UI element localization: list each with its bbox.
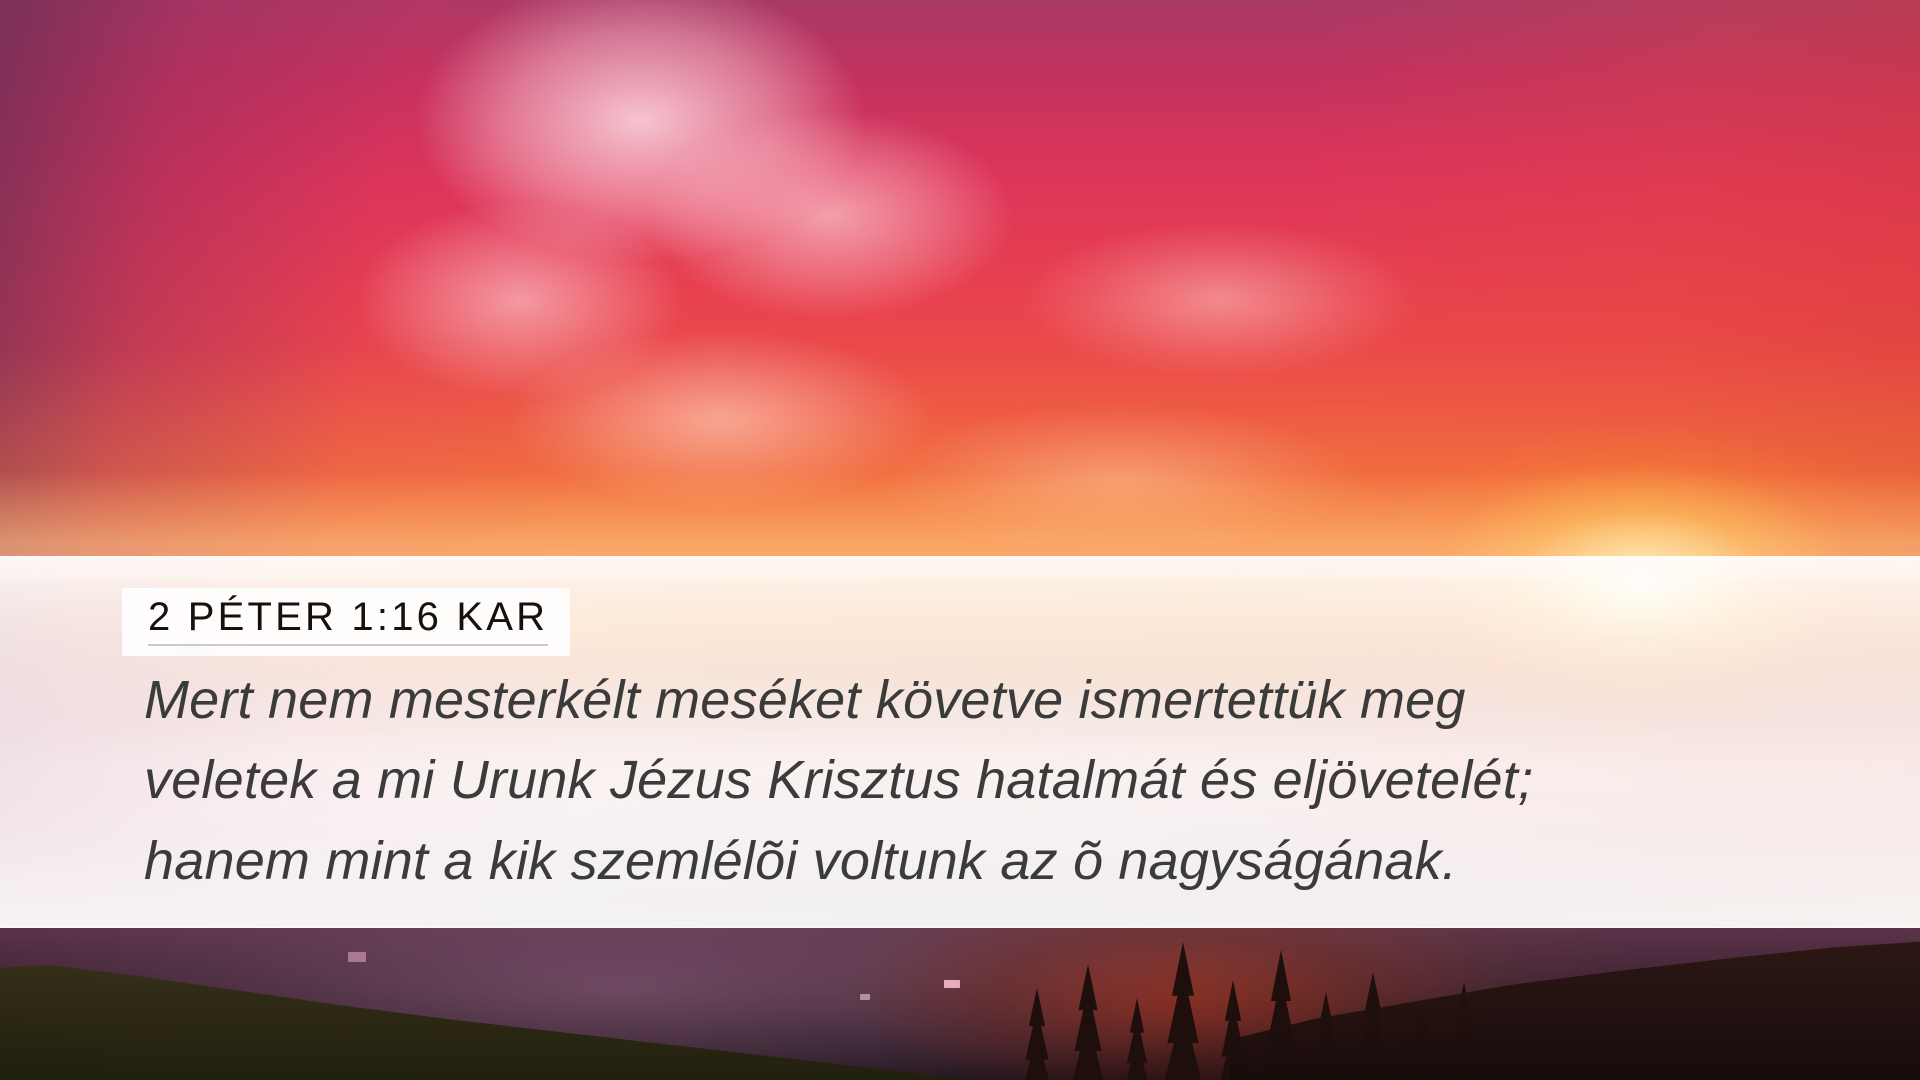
cabin-light [944, 980, 960, 988]
conifer-tree [1160, 942, 1206, 1080]
conifer-tree [1122, 998, 1152, 1080]
verse-reference: 2 PÉTER 1:16 KAR [148, 596, 548, 646]
verse-text: Mert nem mesterkélt meséket követve isme… [144, 660, 1704, 901]
verse-line: veletek a mi Urunk Jézus Krisztus hatalm… [144, 740, 1704, 820]
cabin-light [348, 952, 366, 962]
verse-line: hanem mint a kik szemlélõi voltunk az õ … [144, 821, 1704, 901]
verse-image-canvas: 2 PÉTER 1:16 KAR Mert nem mesterkélt mes… [0, 0, 1920, 1080]
conifer-tree [1068, 964, 1108, 1080]
foreground-landscape [0, 928, 1920, 1080]
reference-highlight: 2 PÉTER 1:16 KAR [122, 588, 570, 656]
cabin-light [860, 994, 870, 1000]
conifer-tree [1020, 988, 1054, 1080]
verse-line: Mert nem mesterkélt meséket követve isme… [144, 660, 1704, 740]
